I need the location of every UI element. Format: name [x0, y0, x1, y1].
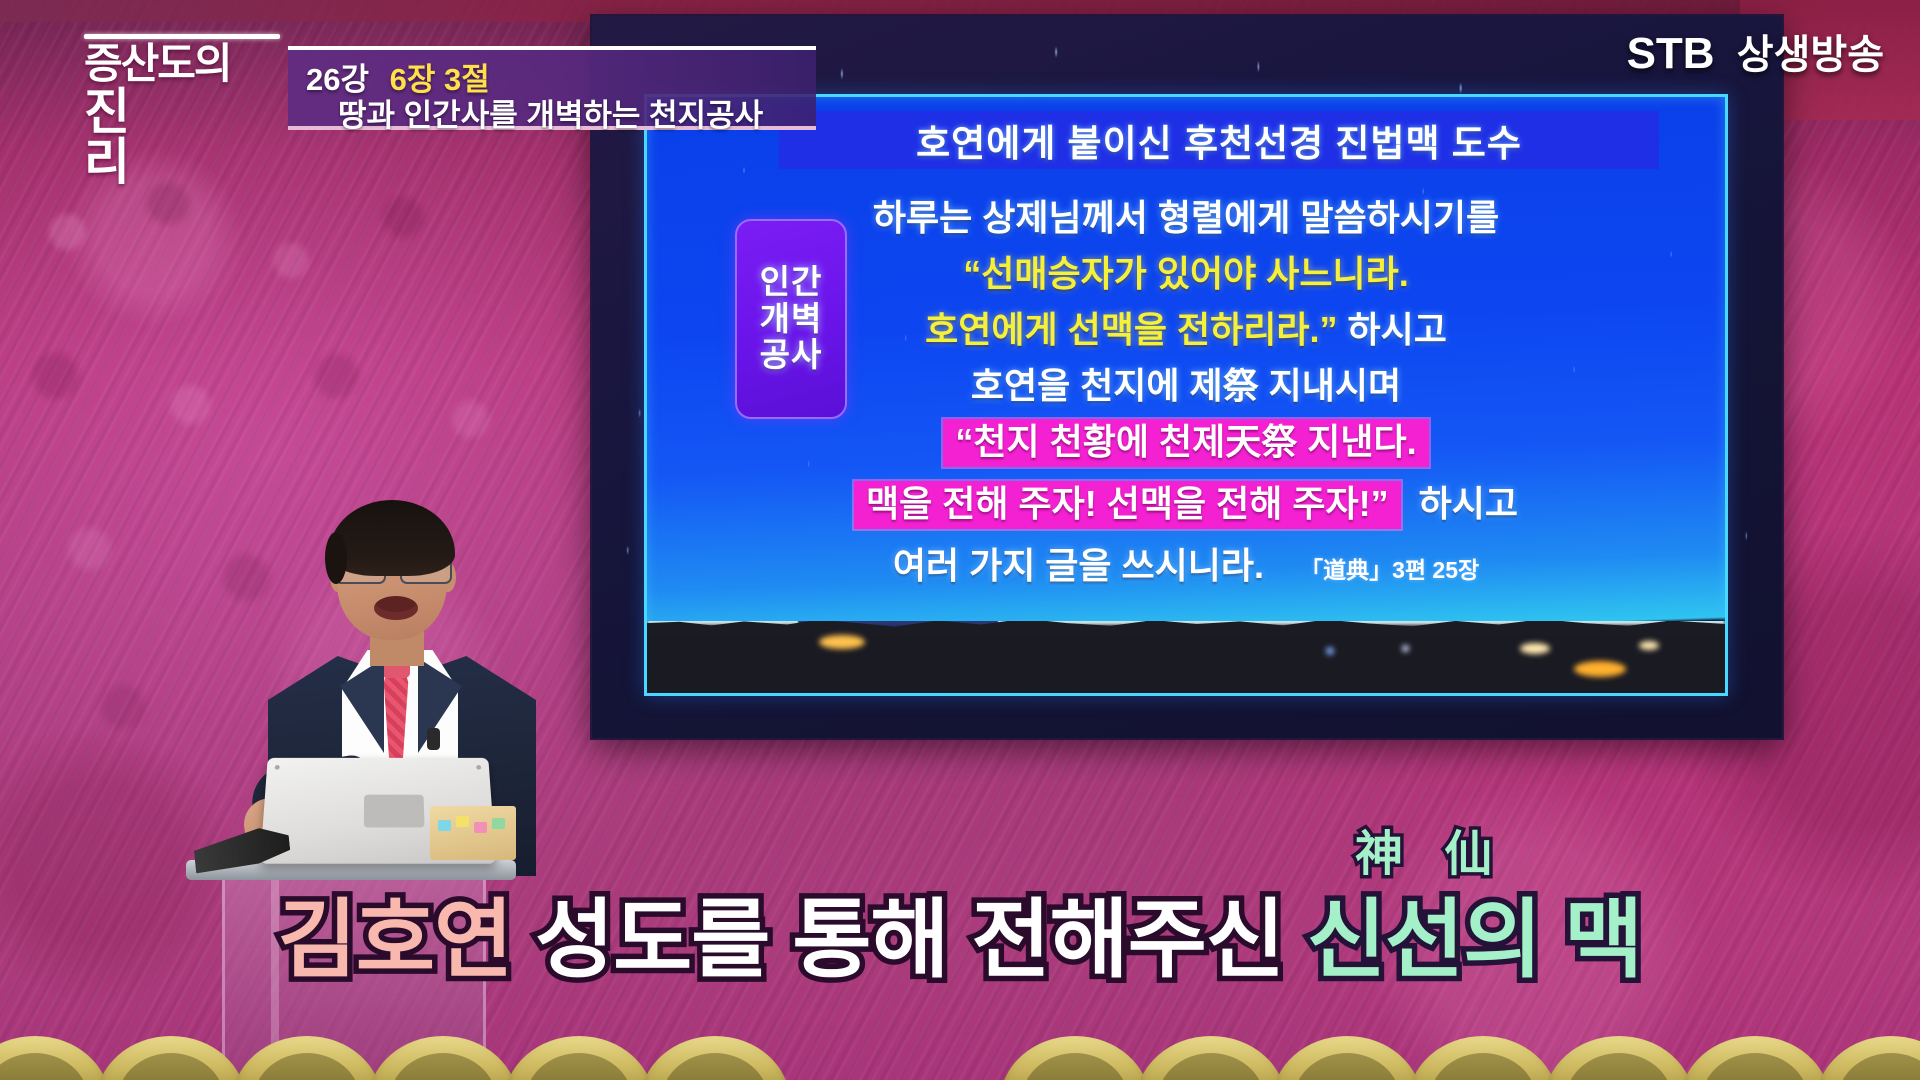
slide-body-line-7: 여러 가지 글을 쓰시니라. 「道典」3편 25장	[647, 537, 1725, 589]
program-logo: 증산도의 진 리	[84, 34, 280, 187]
slide-body-line-3: 호연에게 선맥을 전하리라.” 하시고	[647, 301, 1725, 353]
network-logo-kr: 상생방송	[1737, 33, 1884, 77]
street-light-glow	[819, 635, 865, 649]
program-logo-line-2: 진 리	[84, 87, 280, 187]
caption-segment-keyword: 신선의 맥	[1307, 869, 1642, 994]
bookmark-tab	[456, 816, 469, 827]
gold-arch	[1000, 1036, 1150, 1080]
broadcast-frame: 호연에게 붙이신 후천선경 진법맥 도수 인간 개벽 공사 하루는 상제님께서 …	[0, 0, 1920, 1080]
gold-arch	[1272, 1036, 1422, 1080]
gold-arch	[1816, 1036, 1920, 1080]
book-stack	[430, 806, 516, 860]
gold-arch	[368, 1036, 518, 1080]
slide-body-line-5: “천지 천황에 천제天祭 지낸다.	[647, 413, 1725, 465]
caption-segment-name: 김호연	[278, 869, 512, 994]
stage-skirt-decoration	[0, 1018, 1920, 1080]
monitor-screw	[275, 765, 280, 770]
slide-headline-text: 호연에게 붙이신 후천선경 진법맥 도수	[916, 113, 1522, 167]
slide-headline-bar: 호연에게 붙이신 후천선경 진법맥 도수	[779, 111, 1659, 169]
gold-arch	[640, 1036, 790, 1080]
gold-arch	[1544, 1036, 1694, 1080]
program-logo-line-1: 증산도의	[84, 43, 280, 85]
network-logo: STB 상생방송	[1627, 22, 1884, 80]
street-light-glow	[1574, 661, 1626, 677]
bookmark-tab	[474, 822, 487, 833]
logo-rule	[84, 34, 280, 39]
presentation-slide: 호연에게 붙이신 후천선경 진법맥 도수 인간 개벽 공사 하루는 상제님께서 …	[644, 94, 1728, 696]
gold-arch	[504, 1036, 654, 1080]
monitor-screw	[476, 765, 481, 770]
lecture-subtitle: 땅과 인간사를 개벽하는 천지공사	[338, 90, 763, 135]
lecture-info-bar: 26강 6장 3절 땅과 인간사를 개벽하는 천지공사	[288, 46, 816, 130]
treeline-silhouette	[647, 621, 1725, 635]
bookmark-tab	[492, 818, 505, 829]
slide-body-line-1: 하루는 상제님께서 형렬에게 말씀하시기를	[647, 189, 1725, 241]
network-logo-en: STB	[1627, 29, 1715, 78]
gold-arch	[1408, 1036, 1558, 1080]
lapel-microphone	[427, 728, 440, 750]
monitor-mount-plate	[364, 794, 425, 827]
slide-night-landscape-photo	[647, 621, 1725, 693]
caption-segment-middle: 성도를 통해 전해주신	[535, 869, 1284, 994]
mouth	[374, 596, 418, 620]
street-light-glow	[1402, 645, 1409, 652]
slide-body-line-4: 호연을 천지에 제祭 지내시며	[647, 357, 1725, 409]
gold-arch	[0, 1036, 110, 1080]
street-light-glow	[1326, 647, 1334, 655]
bookmark-tab	[438, 820, 451, 831]
gold-arch	[1136, 1036, 1286, 1080]
lower-third-caption: 김호연 성도를 통해 전해주신 신선의 맥	[0, 869, 1920, 994]
hair	[329, 500, 455, 576]
slide-body-line-2: “선매승자가 있어야 사느니라.	[647, 245, 1725, 297]
street-light-glow	[1639, 641, 1659, 650]
gold-arch	[232, 1036, 382, 1080]
gold-arch	[96, 1036, 246, 1080]
gold-arch	[1680, 1036, 1830, 1080]
street-light-glow	[1520, 643, 1550, 654]
slide-body-line-6: 맥을 전해 주자! 선맥을 전해 주자!” 하시고	[647, 475, 1725, 527]
slide-citation: 「道典」3편 25장	[1300, 557, 1479, 583]
